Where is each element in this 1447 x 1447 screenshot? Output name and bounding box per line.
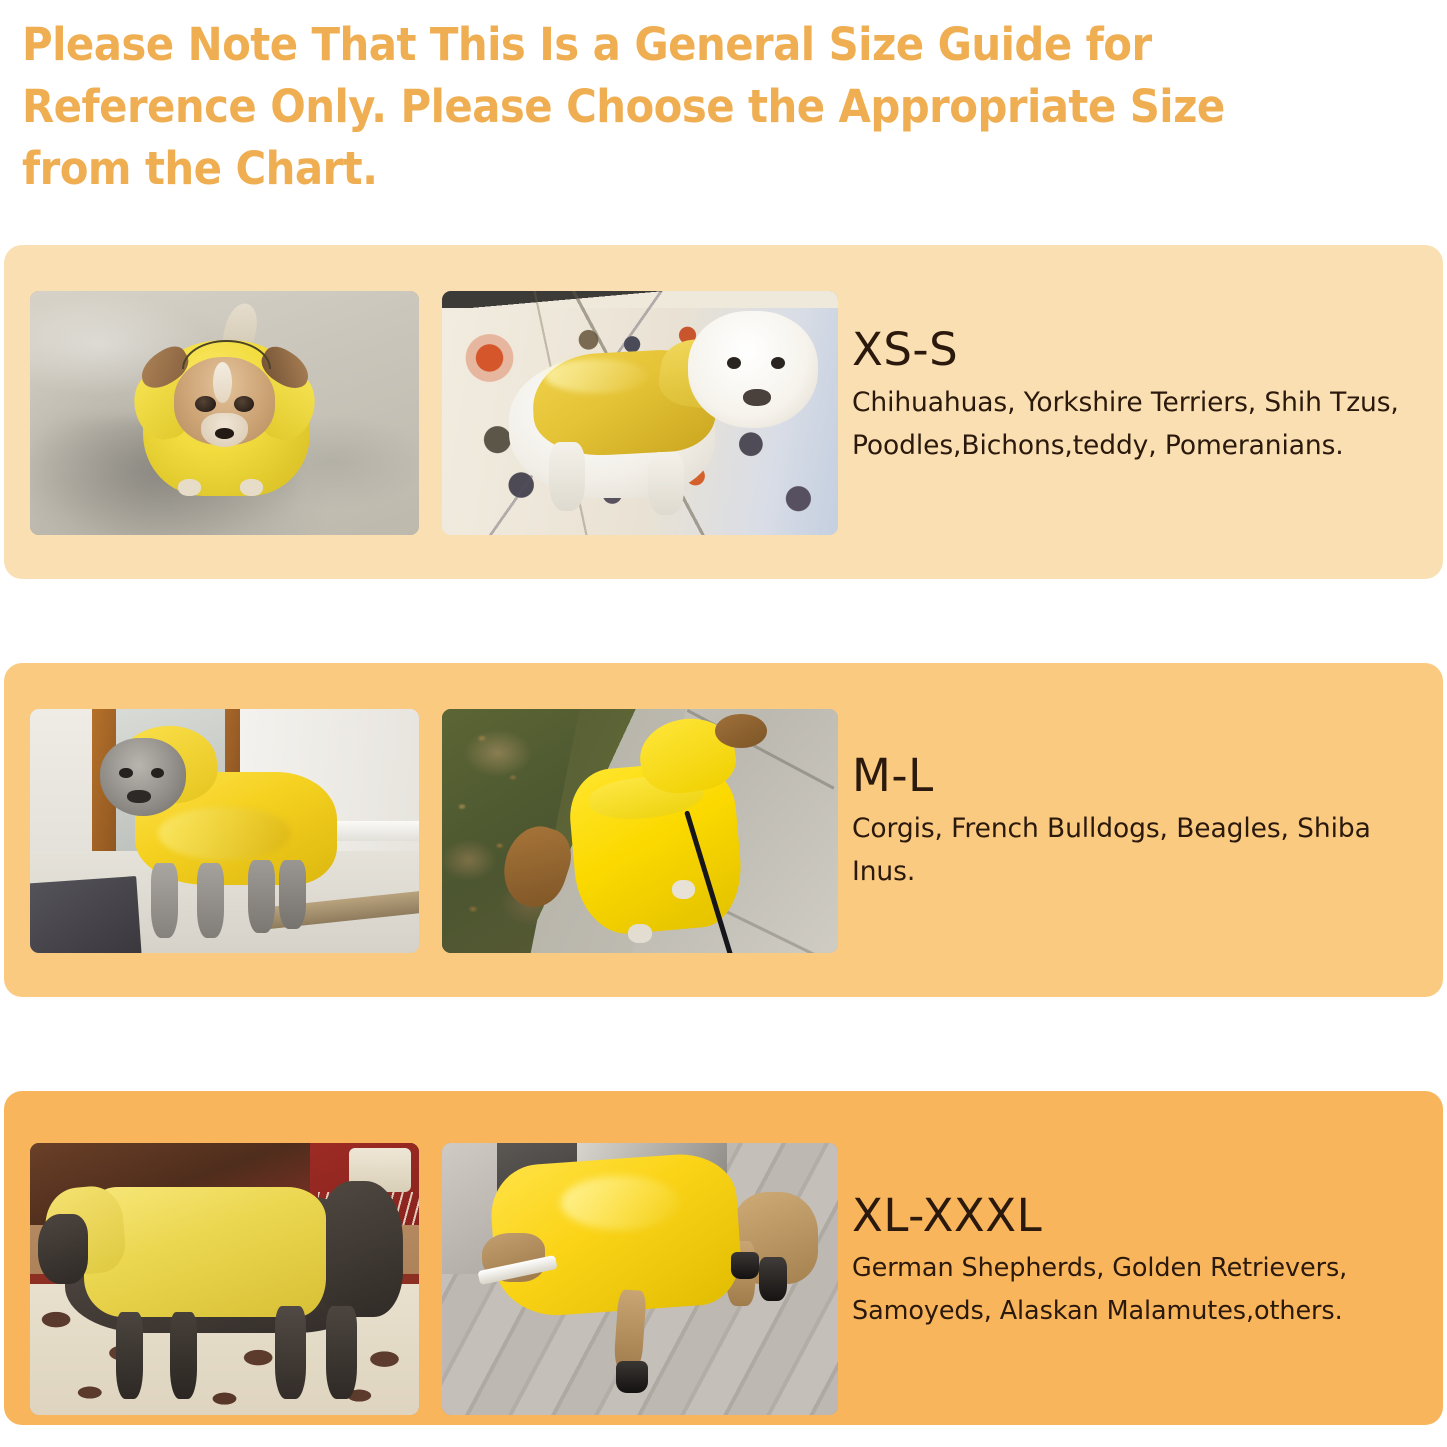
dog-left-paw (178, 479, 201, 496)
dog-paw (628, 924, 652, 944)
dog-back-left-leg (248, 860, 275, 933)
size-info-xl-xxxl: XL-XXXL German Shepherds, Golden Retriev… (852, 1189, 1442, 1333)
dog-boot (759, 1257, 787, 1301)
dog-nose (127, 790, 150, 803)
raincoat-fold-highlight (158, 807, 290, 861)
dog-front-left-leg (116, 1312, 143, 1399)
size-row-xs-s: XS-S Chihuahuas, Yorkshire Terriers, Shi… (4, 245, 1443, 579)
dog-back-leg (648, 452, 684, 515)
breed-list: German Shepherds, Golden Retrievers, Sam… (852, 1247, 1442, 1333)
dog-front-left-leg (151, 863, 178, 939)
dog-left-eye (119, 768, 132, 779)
dog-nose (743, 389, 771, 406)
door-mat (30, 876, 142, 953)
dog-boot (616, 1361, 648, 1394)
dog-head (100, 738, 186, 816)
raincoat-highlight (561, 1176, 680, 1230)
photo-bichon-on-couch (442, 291, 838, 535)
dog-back-right-leg (279, 860, 306, 928)
photo-dog-with-boots-on-wood-floor (442, 1143, 838, 1415)
dog-front-right-leg (197, 863, 224, 939)
dog-left-eye (195, 396, 215, 412)
size-label: XL-XXXL (852, 1189, 1442, 1243)
size-info-m-l: M-L Corgis, French Bulldogs, Beagles, Sh… (852, 749, 1442, 893)
breed-list: Chihuahuas, Yorkshire Terriers, Shih Tzu… (852, 381, 1442, 467)
size-label: XS-S (852, 323, 1442, 377)
page-title: Please Note That This Is a General Size … (22, 14, 1333, 200)
photo-doodle-at-doorway (30, 709, 419, 953)
dog-front-right-leg (170, 1312, 197, 1399)
size-guide-page: Please Note That This Is a General Size … (0, 0, 1447, 1447)
dog-paw (672, 880, 696, 900)
size-label: M-L (852, 749, 1442, 803)
dog-hindquarters (318, 1181, 404, 1317)
size-row-m-l: M-L Corgis, French Bulldogs, Beagles, Sh… (4, 663, 1443, 997)
dog-head (715, 714, 766, 748)
dog-right-eye (234, 396, 254, 412)
photo-dog-on-sidewalk (442, 709, 838, 953)
size-row-xl-xxxl: XL-XXXL German Shepherds, Golden Retriev… (4, 1091, 1443, 1425)
dog-front-leg (549, 442, 585, 510)
dog-boot (731, 1252, 759, 1279)
dog-back-left-leg (275, 1306, 306, 1398)
dog-right-eye (151, 768, 164, 779)
dog-nose (215, 428, 234, 439)
dog-head (38, 1214, 89, 1285)
size-info-xs-s: XS-S Chihuahuas, Yorkshire Terriers, Shi… (852, 323, 1442, 467)
breed-list: Corgis, French Bulldogs, Beagles, Shiba … (852, 807, 1442, 893)
photo-large-dog-on-rug (30, 1143, 419, 1415)
dog-back-right-leg (326, 1306, 357, 1398)
photo-chihuahua-on-concrete (30, 291, 419, 535)
dog-right-paw (240, 479, 263, 496)
dog-right-eye (771, 357, 785, 369)
dog-head (688, 311, 819, 428)
